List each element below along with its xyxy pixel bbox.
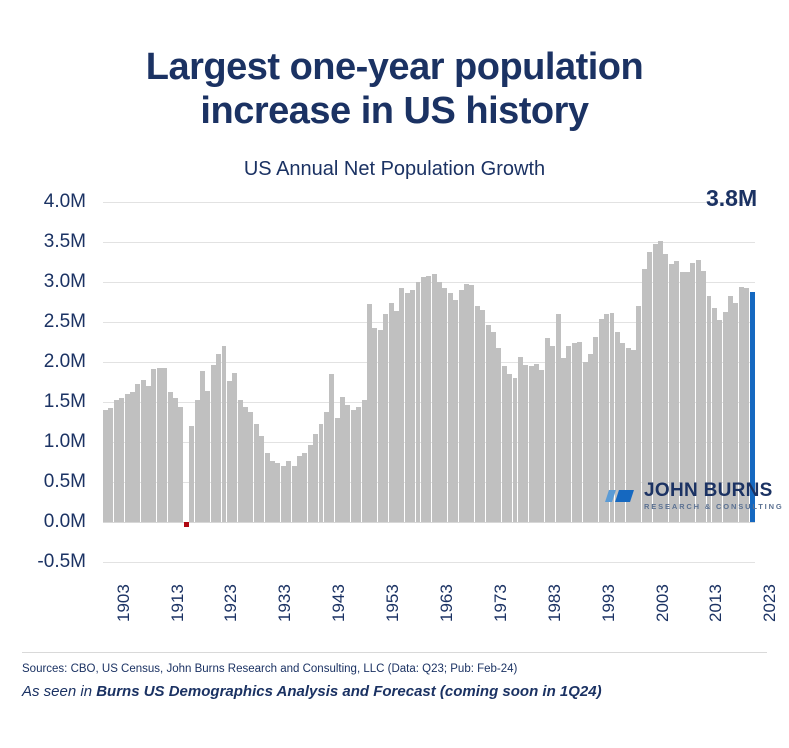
- bar-1947: [340, 397, 345, 522]
- bar-1968: [453, 300, 458, 522]
- bar-1960: [410, 290, 415, 522]
- bar-1943: [319, 424, 324, 522]
- bar-1981: [523, 365, 528, 522]
- bar-1969: [459, 290, 464, 522]
- bar-1937: [286, 461, 291, 522]
- bar-1994: [593, 337, 598, 522]
- bar-1925: [222, 346, 227, 522]
- y-axis-tick-label: 1.5M: [2, 391, 86, 413]
- bar-1987: [556, 314, 561, 522]
- x-axis-tick-label: 2013: [706, 584, 726, 622]
- y-axis-tick-label: 4.0M: [2, 191, 86, 213]
- bar-1928: [238, 400, 243, 522]
- bar-1924: [216, 354, 221, 522]
- bar-1919: [189, 426, 194, 522]
- title-line-1: Largest one-year population: [146, 46, 643, 88]
- bar-1991: [577, 342, 582, 522]
- bar-1904: [108, 408, 113, 522]
- bar-1978: [507, 374, 512, 522]
- bar-1970: [464, 284, 469, 522]
- bar-1962: [421, 277, 426, 522]
- x-axis-tick-label: 1943: [329, 584, 349, 622]
- bar-1927: [232, 373, 237, 522]
- peak-value-annotation: 3.8M: [706, 185, 757, 212]
- bar-1958: [399, 288, 404, 522]
- bar-1965: [437, 282, 442, 522]
- bar-1990: [572, 343, 577, 522]
- bar-1917: [178, 407, 183, 522]
- bar-1979: [513, 378, 518, 522]
- y-axis-tick-label: 3.5M: [2, 231, 86, 253]
- logo-tagline: RESEARCH & CONSULTING: [644, 503, 784, 511]
- bar-1946: [335, 418, 340, 522]
- x-axis-tick-label: 1993: [599, 584, 619, 622]
- bar-1941: [308, 445, 313, 522]
- y-axis-tick-label: 2.5M: [2, 311, 86, 333]
- x-axis-tick-label: 2003: [653, 584, 673, 622]
- bar-1975: [491, 332, 496, 522]
- bar-1955: [383, 314, 388, 522]
- bar-1995: [599, 319, 604, 522]
- x-axis-tick-label: 1913: [168, 584, 188, 622]
- bar-1950: [356, 407, 361, 522]
- y-axis-tick-label: 2.0M: [2, 351, 86, 373]
- bar-1909: [135, 384, 140, 522]
- bar-1913: [157, 368, 162, 522]
- x-axis-tick-label: 1973: [491, 584, 511, 622]
- bar-1912: [151, 369, 156, 522]
- bar-1972: [475, 306, 480, 522]
- bar-1971: [469, 285, 474, 522]
- bar-1935: [275, 463, 280, 522]
- y-axis-tick-label: 0.5M: [2, 471, 86, 493]
- y-axis-tick-label: -0.5M: [2, 551, 86, 573]
- bar-1905: [114, 400, 119, 522]
- bar-1959: [405, 293, 410, 522]
- bar-1922: [205, 391, 210, 522]
- bar-1908: [130, 392, 135, 522]
- bar-1929: [243, 407, 248, 522]
- chart-title: Largest one-year population increase in …: [0, 46, 789, 133]
- bar-1967: [448, 293, 453, 522]
- bar-1942: [313, 434, 318, 522]
- x-axis-labels: 1903191319231933194319531963197319831993…: [103, 566, 755, 636]
- bar-1911: [146, 386, 151, 522]
- bar-1923: [211, 365, 216, 522]
- x-axis-tick-label: 1963: [437, 584, 457, 622]
- bar-1938: [292, 466, 297, 522]
- bar-1993: [588, 354, 593, 522]
- x-axis-tick-label: 2023: [760, 584, 780, 622]
- bar-1951: [362, 400, 367, 522]
- bar-1986: [550, 346, 555, 522]
- bar-1961: [416, 282, 421, 522]
- as-seen-prefix: As seen in: [22, 683, 96, 700]
- bar-1921: [200, 371, 205, 522]
- sources-text: Sources: CBO, US Census, John Burns Rese…: [22, 663, 517, 675]
- y-axis-tick-label: 3.0M: [2, 271, 86, 293]
- x-axis-tick-label: 1923: [221, 584, 241, 622]
- bar-1920: [195, 400, 200, 522]
- bar-1926: [227, 381, 232, 522]
- bar-1956: [389, 303, 394, 522]
- bar-1957: [394, 311, 399, 522]
- bar-1910: [141, 380, 146, 522]
- bar-1936: [281, 466, 286, 522]
- footer-divider: [22, 652, 767, 653]
- bar-1983: [534, 364, 539, 522]
- bar-1907: [125, 394, 130, 522]
- bar-1934: [270, 461, 275, 522]
- bar-1982: [529, 366, 534, 522]
- x-axis-tick-label: 1933: [275, 584, 295, 622]
- chart-subtitle: US Annual Net Population Growth: [0, 158, 789, 181]
- bar-1948: [345, 405, 350, 522]
- bar-1992: [583, 362, 588, 522]
- bar-1952: [367, 304, 372, 522]
- bar-1914: [162, 368, 167, 522]
- bar-1976: [496, 348, 501, 522]
- bar-1933: [265, 453, 270, 522]
- logo-name: JOHN BURNS: [644, 481, 784, 500]
- as-seen-report-title: Burns US Demographics Analysis and Forec…: [96, 683, 601, 700]
- bar-1939: [297, 456, 302, 522]
- bar-1989: [566, 346, 571, 522]
- bar-1906: [119, 398, 124, 522]
- bar-1949: [351, 410, 356, 522]
- y-axis-tick-label: 0.0M: [2, 511, 86, 533]
- bar-1918: [184, 522, 189, 527]
- as-seen-in-text: As seen in Burns US Demographics Analysi…: [22, 683, 602, 700]
- y-axis-tick-label: 1.0M: [2, 431, 86, 453]
- x-axis-tick-label: 1903: [114, 584, 134, 622]
- bar-1973: [480, 310, 485, 522]
- x-axis-tick-label: 1983: [545, 584, 565, 622]
- bar-1988: [561, 358, 566, 522]
- bar-1931: [254, 424, 259, 522]
- bar-1977: [502, 366, 507, 522]
- bar-1916: [173, 398, 178, 522]
- bar-1940: [302, 453, 307, 522]
- logo-parallelogram-icon: [607, 487, 637, 505]
- bar-1954: [378, 330, 383, 522]
- bar-1915: [168, 392, 173, 522]
- title-line-2: increase in US history: [0, 90, 789, 134]
- bar-1932: [259, 436, 264, 522]
- bar-1974: [486, 325, 491, 522]
- bar-1985: [545, 338, 550, 522]
- bar-1980: [518, 357, 523, 522]
- bar-1966: [442, 288, 447, 522]
- bar-1945: [329, 374, 334, 522]
- gridline: [103, 562, 755, 563]
- x-axis-tick-label: 1953: [383, 584, 403, 622]
- bar-1930: [248, 412, 253, 522]
- bar-1963: [426, 276, 431, 522]
- bar-1953: [372, 328, 377, 522]
- bar-1944: [324, 412, 329, 522]
- bar-1964: [432, 274, 437, 522]
- bar-1984: [539, 370, 544, 522]
- bar-1903: [103, 410, 108, 522]
- company-logo: JOHN BURNS RESEARCH & CONSULTING: [607, 481, 784, 511]
